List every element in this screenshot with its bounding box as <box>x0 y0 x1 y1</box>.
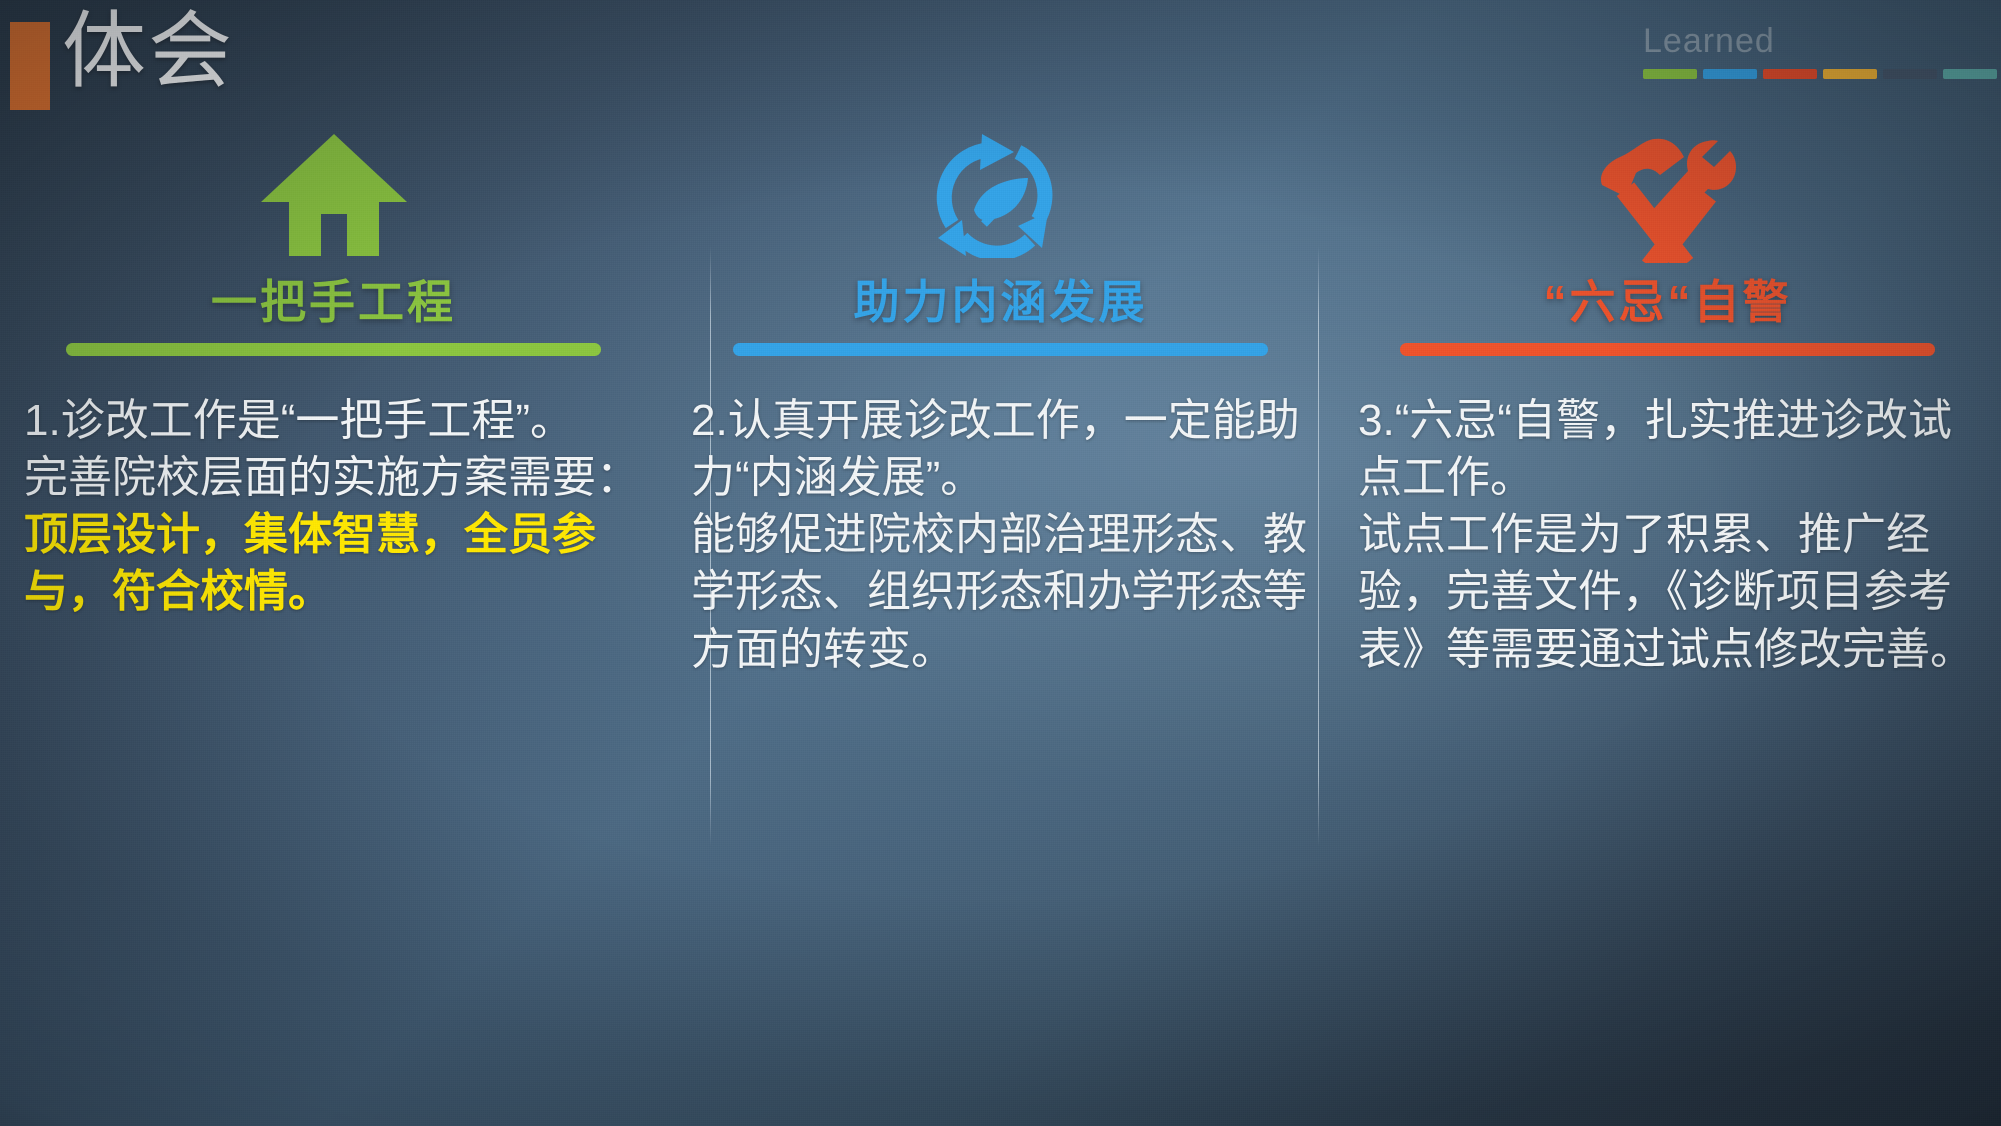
progress-segment-slate <box>1883 69 1937 79</box>
progress-segment-bars <box>1643 69 2001 79</box>
tools-icon-slot <box>1356 118 1979 268</box>
progress-segment-red <box>1763 69 1817 79</box>
column-one-heading: 一把手工程 <box>22 276 645 329</box>
title-accent-bar <box>10 22 50 110</box>
column-two-rule <box>733 343 1269 356</box>
recycle-icon-slot <box>689 118 1312 268</box>
progress-segment-green <box>1643 69 1697 79</box>
column-three-rule <box>1400 343 1936 356</box>
column-three-heading: “六忌“自警 <box>1356 276 1979 329</box>
column-two-body: 2.认真开展诊改工作，一定能助力“内涵发展”。 能够促进院校内部治理形态、教学形… <box>689 392 1312 678</box>
progress-segment-teal <box>1943 69 1997 79</box>
learned-label: Learned <box>1643 22 1775 61</box>
content-columns: 一把手工程 1.诊改工作是“一把手工程”。 完善院校层面的实施方案需要： 顶层设… <box>0 118 2001 1126</box>
hammer-wrench-icon <box>1588 123 1748 263</box>
house-icon-slot <box>22 118 645 268</box>
column-one-emphasis: 顶层设计，集体智慧，全员参与，符合校情。 <box>22 506 645 620</box>
column-two-heading: 助力内涵发展 <box>689 276 1312 329</box>
house-icon <box>259 128 409 258</box>
progress-segment-blue <box>1703 69 1757 79</box>
page-title: 体会 <box>62 7 234 95</box>
column-two: 助力内涵发展 2.认真开展诊改工作，一定能助力“内涵发展”。 能够促进院校内部治… <box>667 118 1334 1126</box>
slide-canvas: 体会 Learned 一把手工程 1.诊改工作是“一把手工程”。 完善院校层面的… <box>0 0 2001 1126</box>
column-three: “六忌“自警 3.“六忌“自警，扎实推进诊改试点工作。 试点工作是为了积累、推广… <box>1334 118 2001 1126</box>
column-one-rule <box>66 343 602 356</box>
column-one-body: 1.诊改工作是“一把手工程”。 完善院校层面的实施方案需要： <box>22 392 645 506</box>
progress-segment-amber <box>1823 69 1877 79</box>
learned-progress-widget: Learned <box>1581 22 2001 92</box>
recycle-arrows-leaf-icon <box>926 128 1076 258</box>
column-three-body: 3.“六忌“自警，扎实推进诊改试点工作。 试点工作是为了积累、推广经验，完善文件… <box>1356 392 1979 678</box>
column-one: 一把手工程 1.诊改工作是“一把手工程”。 完善院校层面的实施方案需要： 顶层设… <box>0 118 667 1126</box>
